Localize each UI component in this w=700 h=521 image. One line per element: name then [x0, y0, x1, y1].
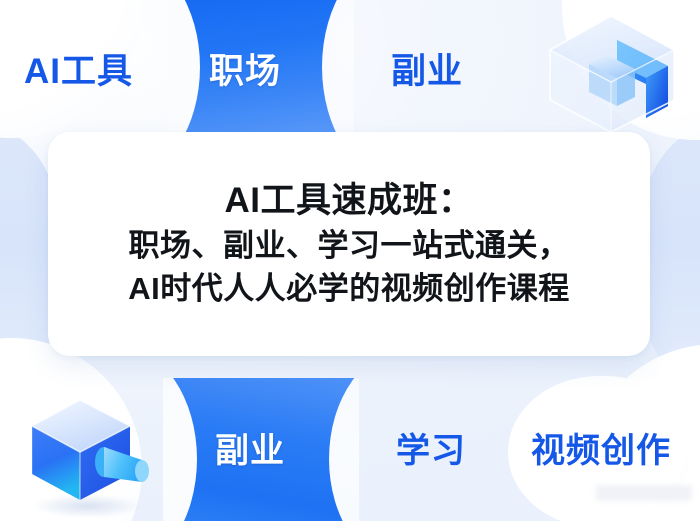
- tag-ai-tools[interactable]: AI工具: [24, 43, 133, 94]
- headline-line-1: AI工具速成班：: [224, 178, 473, 224]
- poster-canvas: AI工具 职场 副业 AI工具速成班： 职场、副业、学习一站式通关， AI时代人…: [0, 0, 700, 521]
- tag-side-job-bottom[interactable]: 副业: [215, 423, 285, 472]
- tag-study[interactable]: 学习: [396, 423, 466, 472]
- tag-video-creation[interactable]: 视频创作: [531, 423, 671, 472]
- glass-cube-icon: [528, 6, 694, 138]
- tag-side-job-top[interactable]: 副业: [391, 43, 463, 94]
- watermark: [596, 485, 692, 501]
- tag-workplace[interactable]: 职场: [209, 43, 281, 94]
- headline-line-2: 职场、副业、学习一站式通关，: [129, 224, 570, 267]
- headline-line-3: AI时代人人必学的视频创作课程: [128, 267, 570, 310]
- headline-card: AI工具速成班： 职场、副业、学习一站式通关， AI时代人人必学的视频创作课程: [48, 132, 650, 356]
- blue-cube-plug-icon: [18, 388, 164, 520]
